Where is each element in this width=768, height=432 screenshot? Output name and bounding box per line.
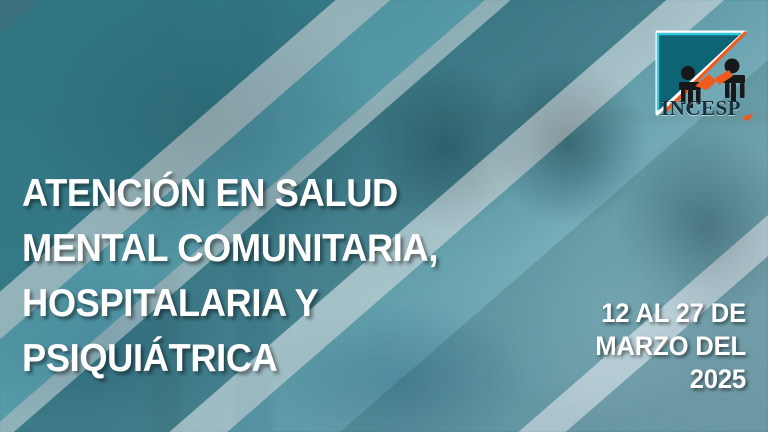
headline-line-4: PSIQUIÁTRICA [22, 331, 487, 386]
incesp-logo[interactable]: INCESP [645, 18, 757, 128]
logo-wordmark: INCESP [645, 96, 757, 121]
date-line-3: 2025 [461, 363, 746, 396]
event-banner: ATENCIÓN EN SALUD MENTAL COMUNITARIA, HO… [0, 0, 768, 432]
date-line-2: MARZO DEL [461, 330, 746, 363]
headline-line-1: ATENCIÓN EN SALUD [22, 166, 487, 221]
headline-line-2: MENTAL COMUNITARIA, [22, 221, 487, 276]
banner-headline: ATENCIÓN EN SALUD MENTAL COMUNITARIA, HO… [22, 166, 487, 386]
headline-line-3: HOSPITALARIA Y [22, 276, 487, 331]
event-date-block: 12 AL 27 DE MARZO DEL 2025 [461, 297, 746, 396]
date-line-1: 12 AL 27 DE [461, 297, 746, 330]
